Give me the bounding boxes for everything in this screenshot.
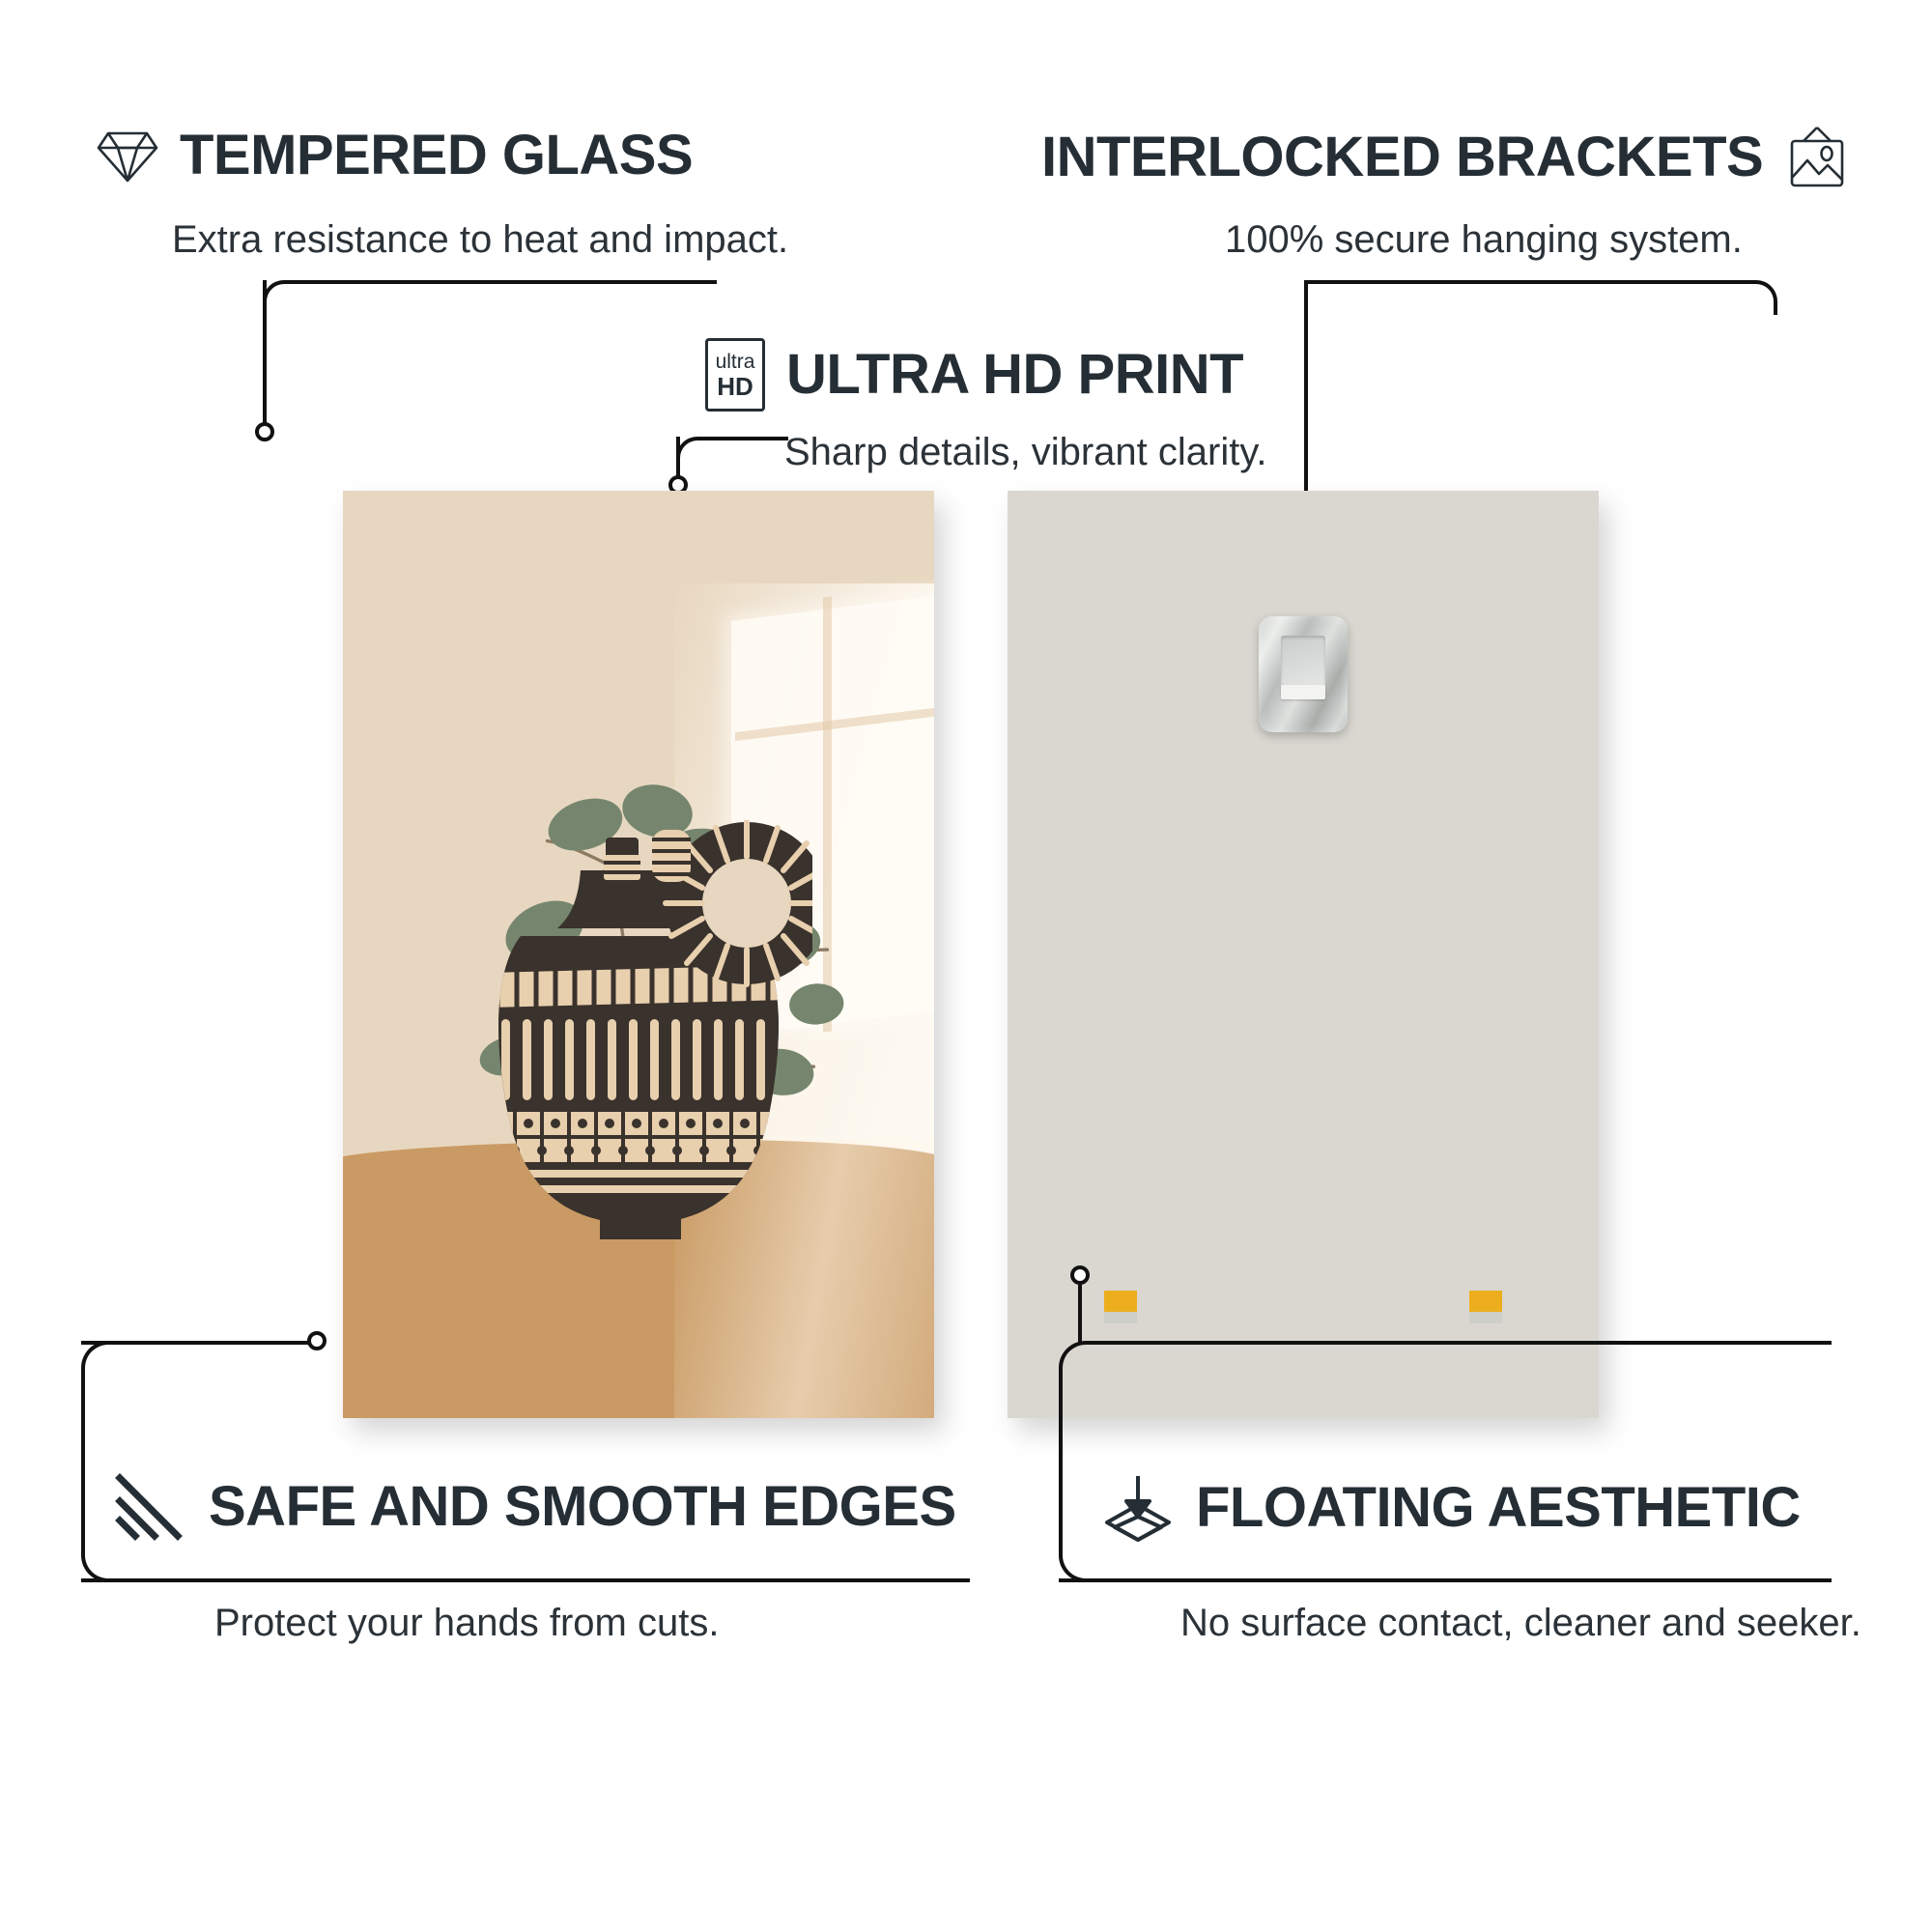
spacer-pad-base — [1469, 1312, 1502, 1323]
callout-line-safe-edges-bottom — [81, 1578, 970, 1582]
diamond-icon — [97, 126, 158, 185]
feature-interlocked-brackets-subtitle: 100% secure hanging system. — [1225, 220, 1743, 259]
callout-dot-floating — [1070, 1265, 1090, 1285]
feature-title: TEMPERED GLASS — [180, 128, 693, 184]
framed-picture-icon — [1784, 126, 1850, 189]
feature-tempered-glass-heading: TEMPERED GLASS — [97, 126, 693, 185]
artwork-panel — [343, 491, 934, 1418]
feature-tempered-glass-subtitle: Extra resistance to heat and impact. — [172, 220, 788, 259]
feature-title: INTERLOCKED BRACKETS — [1041, 129, 1763, 185]
callout-bracket-safe-edges — [81, 1341, 313, 1582]
spacer-pad-top — [1469, 1291, 1502, 1313]
infographic-canvas: TEMPERED GLASS Extra resistance to heat … — [0, 0, 1932, 1932]
callout-bracket-floating — [1059, 1341, 1832, 1582]
bracket-keyhole — [1281, 685, 1325, 699]
callout-line-tempered-glass — [263, 280, 717, 315]
feature-ultra-hd-heading: ultra HD ULTRA HD PRINT — [705, 338, 1243, 412]
ultra-hd-badge-top: ultra — [716, 352, 755, 372]
arrow-down-to-plate-icon — [1101, 1472, 1175, 1544]
spacer-pad-right — [1469, 1291, 1502, 1323]
feature-floating-subtitle: No surface contact, cleaner and seeker. — [1180, 1604, 1861, 1642]
spacer-pad-left — [1104, 1291, 1137, 1323]
feature-title: SAFE AND SMOOTH EDGES — [209, 1479, 956, 1535]
callout-line-brackets — [1308, 280, 1777, 315]
callout-line-ultra-hd — [676, 437, 788, 475]
beveled-edge-lines-icon — [114, 1472, 187, 1542]
feature-floating-heading: FLOATING AESTHETIC — [1101, 1472, 1801, 1544]
back-panel — [1008, 491, 1599, 1418]
spacer-pad-base — [1104, 1312, 1137, 1323]
feature-title: FLOATING AESTHETIC — [1196, 1480, 1801, 1536]
feature-safe-edges-heading: SAFE AND SMOOTH EDGES — [114, 1472, 956, 1542]
feature-safe-edges-subtitle: Protect your hands from cuts. — [214, 1604, 719, 1642]
callout-line-floating-vertical — [1078, 1285, 1082, 1345]
feature-title: ULTRA HD PRINT — [786, 347, 1243, 403]
callout-line-tempered-glass-vertical — [263, 280, 267, 435]
callout-line-floating-bottom — [1059, 1578, 1832, 1582]
feature-interlocked-brackets-heading: INTERLOCKED BRACKETS — [1041, 126, 1850, 189]
ultra-hd-badge-icon: ultra HD — [705, 338, 765, 412]
callout-dot-tempered-glass — [255, 422, 274, 441]
metal-hanging-bracket — [1259, 616, 1348, 732]
callout-line-safe-edges-top — [81, 1341, 313, 1345]
feature-ultra-hd-subtitle: Sharp details, vibrant clarity. — [784, 433, 1266, 471]
ultra-hd-badge-bottom: HD — [717, 374, 753, 399]
callout-dot-safe-edges — [307, 1331, 327, 1350]
decorated-vase — [465, 820, 812, 1274]
spacer-pad-top — [1104, 1291, 1137, 1313]
